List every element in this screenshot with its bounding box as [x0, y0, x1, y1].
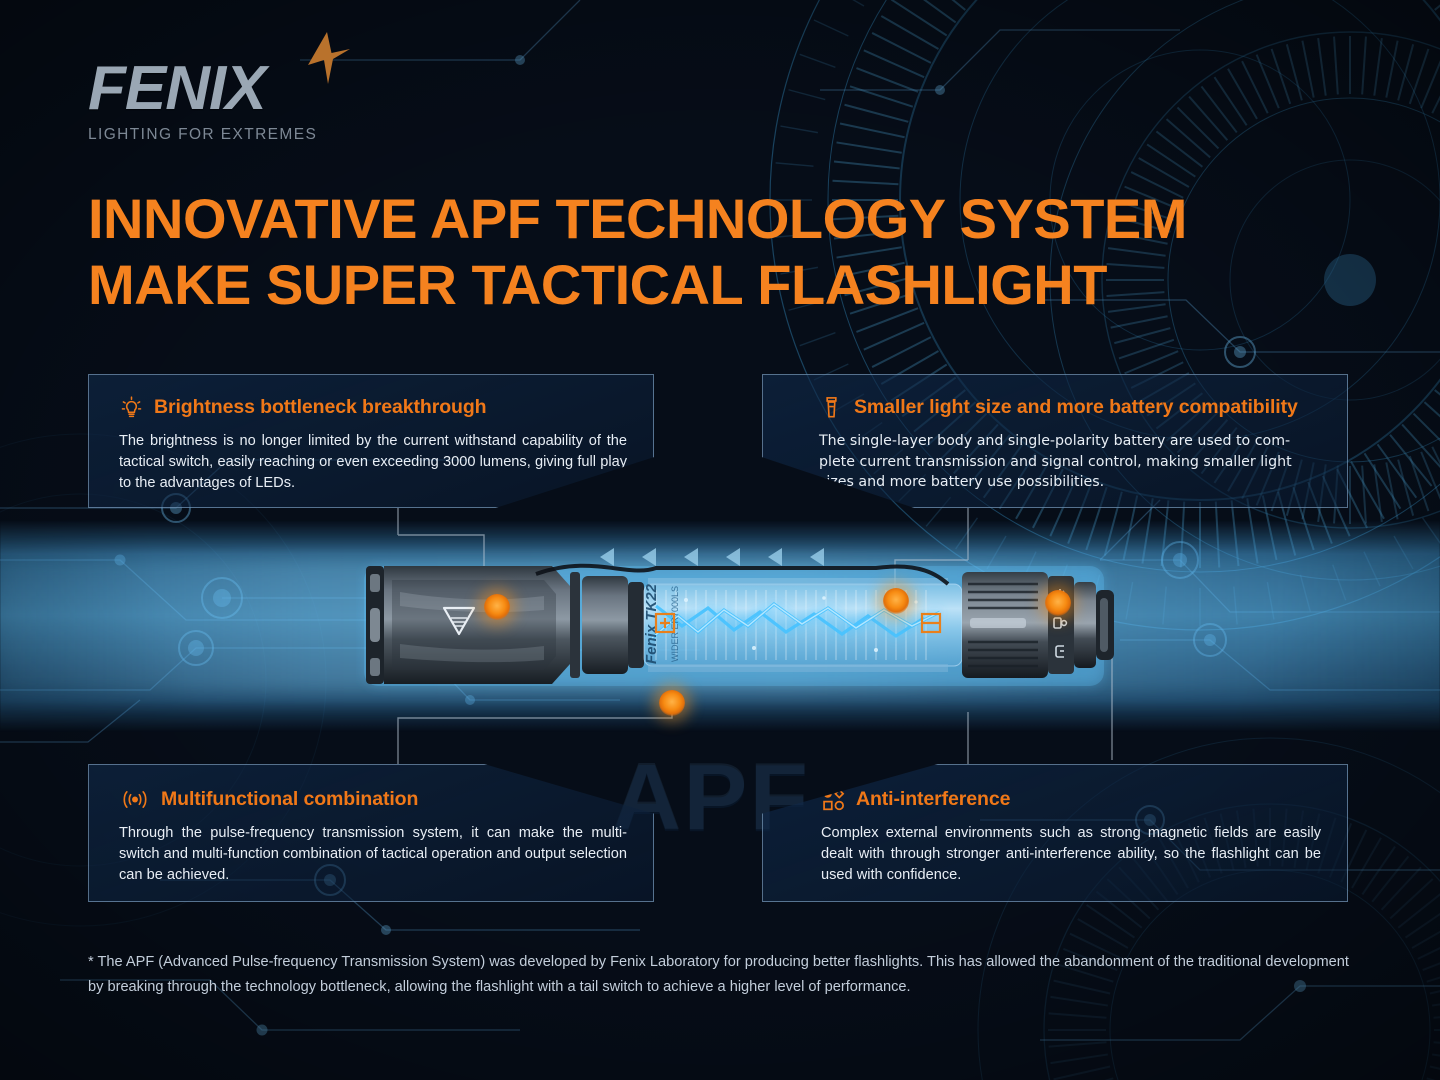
card-body-line: The single-layer body and single-polarit… [819, 431, 1321, 452]
hotspot-underside[interactable] [659, 690, 685, 716]
flashlight-product-illustration: Fenix TK22 WIDER ER7000LS [356, 540, 1126, 710]
card-body-line: plete current transmission and signal co… [819, 452, 1321, 473]
card-body: Through the pulse-frequency transmission… [119, 823, 627, 886]
footnote: * The APF (Advanced Pulse-frequency Tran… [88, 950, 1360, 1000]
card-title: Anti-interference [856, 788, 1010, 811]
card-title: Multifunctional combination [161, 788, 418, 811]
flashlight-icon [819, 395, 844, 420]
card-body: The single-layer body and single-polarit… [819, 431, 1321, 493]
lightbulb-icon [119, 395, 144, 420]
product-model-label: Fenix TK22 [643, 583, 660, 664]
footnote-line-1: * The APF (Advanced Pulse-frequency Tran… [88, 954, 1194, 970]
card-header: Anti-interference [821, 787, 1321, 812]
card-title: Brightness bottleneck breakthrough [154, 396, 486, 419]
hotspot-body[interactable] [883, 588, 909, 614]
infographic-canvas: APF FENIX LIGHTING FOR EXTREMES INNOVATI… [0, 0, 1440, 1080]
card-title: Smaller light size and more battery comp… [854, 396, 1298, 419]
card-header: Smaller light size and more battery comp… [819, 395, 1321, 420]
card-body-line: sizes and more battery use possibilities… [819, 472, 1321, 493]
broadcast-signal-icon [119, 787, 151, 812]
card-body: The brightness is no longer limited by t… [119, 431, 627, 494]
hotspot-head[interactable] [484, 594, 510, 620]
card-body: Complex external environments such as st… [821, 823, 1321, 886]
hotspot-tail[interactable] [1045, 590, 1071, 616]
card-header: Brightness bottleneck breakthrough [119, 395, 627, 420]
card-header: Multifunctional combination [119, 787, 627, 812]
